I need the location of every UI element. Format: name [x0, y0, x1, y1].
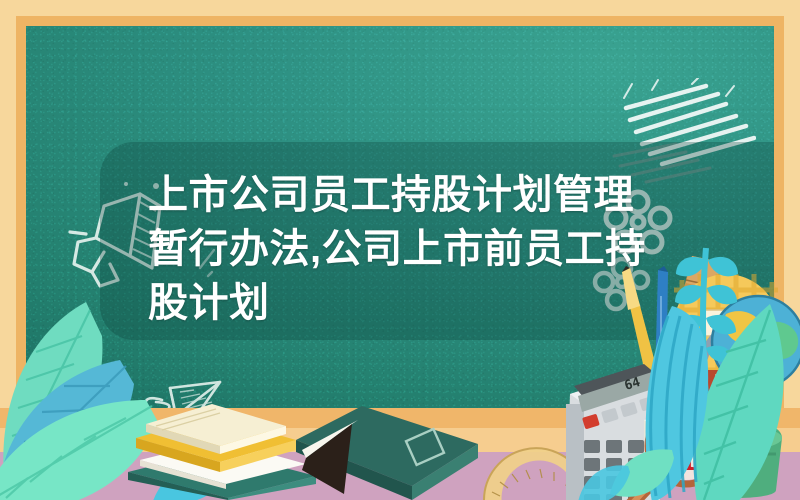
leaf-accent-bottom-center — [576, 462, 632, 500]
banner-image: 上市公司员工持股计划管理 暂行办法,公司上市前员工持 股计划 — [0, 0, 800, 500]
title-line-1: 上市公司员工持股计划管理 — [148, 168, 672, 222]
stacked-books — [120, 390, 320, 500]
dark-green-book — [292, 400, 482, 500]
